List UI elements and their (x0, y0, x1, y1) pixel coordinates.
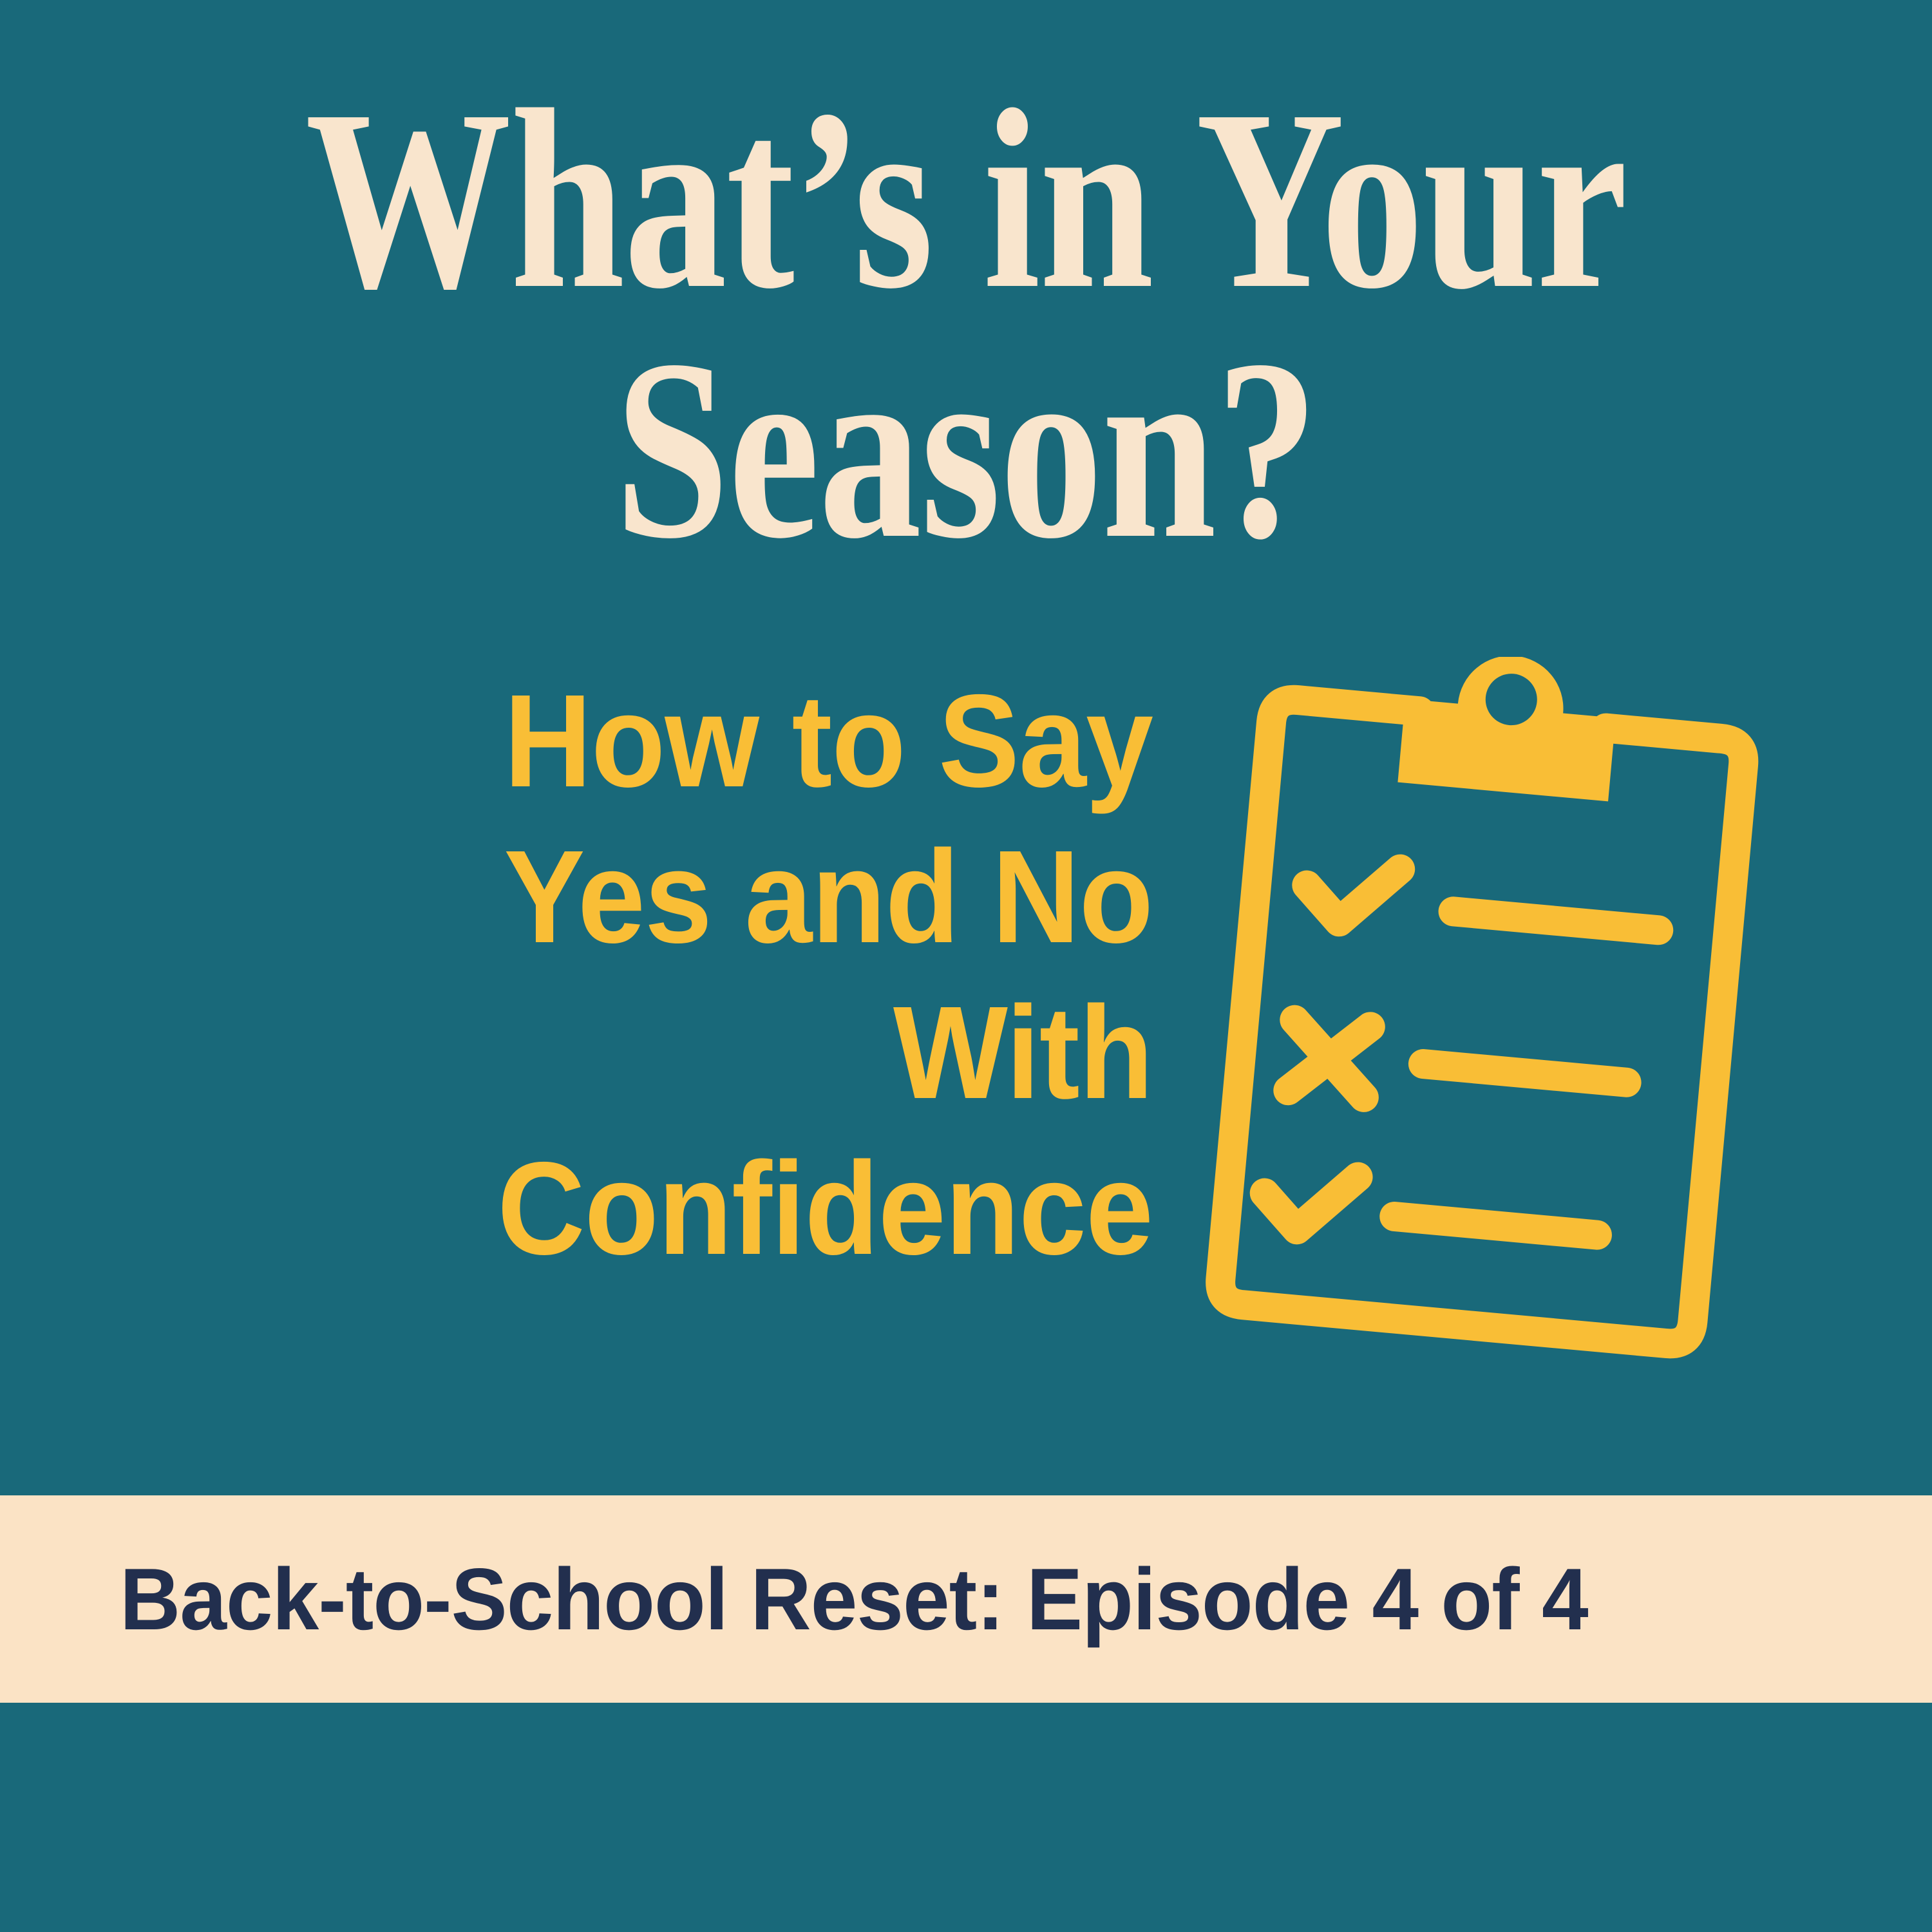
clipboard-clip (1397, 657, 1643, 804)
subtitle-line-1: How to Say (270, 663, 1153, 819)
clipboard-list-line-3 (1394, 1217, 1597, 1235)
subtitle: How to Say Yes and No With Confidence (193, 663, 1153, 1287)
subtitle-line-2: Yes and No (270, 819, 1153, 975)
bottom-banner: Back-to-School Reset: Episode 4 of 4 (0, 1495, 1932, 1703)
episode-label: Back-to-School Reset: Episode 4 of 4 (120, 1555, 1588, 1643)
podcast-cover-artwork: What’s in Your Season? How to Say Yes an… (0, 0, 1932, 1932)
title-line-2: Season? (193, 327, 1739, 572)
clipboard-list-line-1 (1454, 911, 1659, 930)
clipboard-check-icon-2 (1262, 1169, 1358, 1235)
clipboard-checklist-svg (1198, 657, 1765, 1404)
subtitle-line-3: With (270, 975, 1153, 1131)
clipboard-checklist-icon (1198, 657, 1765, 1404)
clipboard-list-line-2 (1423, 1064, 1627, 1083)
title-line-1: What’s in Your (193, 77, 1739, 322)
clipboard-check-icon-1 (1304, 861, 1401, 927)
page-title: What’s in Your Season? (0, 77, 1932, 572)
subtitle-line-4: Confidence (270, 1131, 1153, 1287)
